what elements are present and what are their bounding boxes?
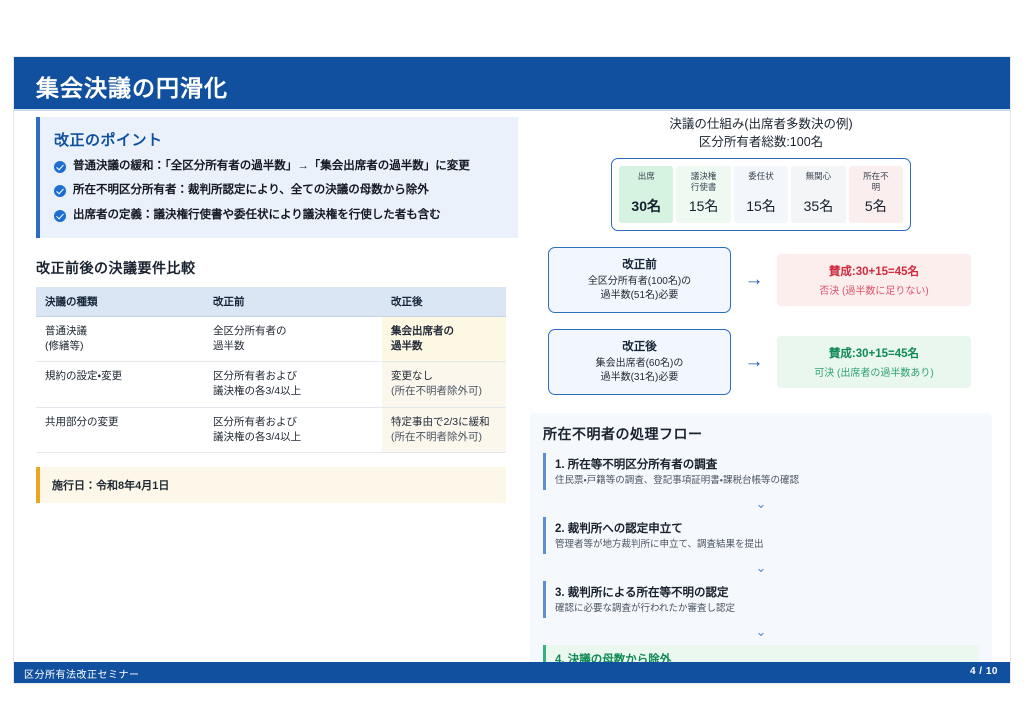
result-main: 賛成:30+15=45名 [783,263,965,279]
vote-cell-voting-form: 議決権 行使書 15名 [676,166,730,222]
cell-before-line2: 議決権の各3/4以上 [213,384,373,399]
cell-after-line1: 集会出席者の [391,324,497,339]
column-header-after: 改正後 [382,287,506,317]
table-row: 規約の設定・変更 区分所有者および 議決権の各3/4以上 変更なし (所在不明者… [36,362,506,407]
check-circle-icon [54,210,66,222]
cell-before-line1: 全区分所有者の [213,324,373,339]
mechanism-title-line1: 決議の仕組み(出席者多数決の例) [669,117,852,131]
cell-type-main: 普通決議 [45,324,195,339]
scenario-box-after: 改正後 集会出席者(60名)の 過半数(31名)必要 [548,329,731,395]
flow-step-title: 3. 裁判所による所在等不明の認定 [555,584,979,600]
vote-cell-value: 15名 [678,196,728,216]
scenario-title: 改正後 [555,338,724,354]
scenario-line1: 集会出席者(60名)の [555,357,724,372]
scenario-result-before: 賛成:30+15=45名 否決 (過半数に足りない) [777,254,971,306]
slide-title-bar: 集会決議の円滑化 [14,57,1010,109]
cell-type-main: 規約の設定・変更 [45,369,195,384]
flow-step-1: 1. 所在等不明区分所有者の調査 住民票・戸籍等の調査、登記事項証明書・課税台帳… [543,453,979,490]
cell-type: 普通決議 (修繕等) [36,316,204,361]
vote-cell-attendance: 出席 30名 [619,166,673,222]
cell-type-sub: (修繕等) [45,339,195,354]
vote-cell-unknown-location: 所在不 明 5名 [849,166,903,222]
key-point-item: 出席者の定義：議決権行使書や委任状により議決権を行使した者も含む [54,207,504,224]
key-point-item: 普通決議の緩和：「全区分所有者の過半数」→「集会出席者の過半数」に変更 [54,158,504,175]
scenario-line2: 過半数(31名)必要 [555,371,724,386]
flow-step-desc: 確認に必要な調査が行われたか審査し認定 [555,602,979,615]
vote-breakdown-box: 出席 30名 議決権 行使書 15名 委任状 15名 無関心 35名 所在不 [611,158,911,230]
flow-step-title: 2. 裁判所への認定申立て [555,520,979,536]
check-circle-icon [54,161,66,173]
vote-cell-value: 35名 [793,196,843,216]
slide-footer: 区分所有法改正セミナー 4 / 10 [14,662,1010,683]
cell-before-line1: 区分所有者および [213,415,373,430]
scenario-row-before: 改正前 全区分所有者(100名)の 過半数(51名)必要 → 賛成:30+15=… [530,247,992,313]
cell-before: 区分所有者および 議決権の各3/4以上 [204,362,382,407]
key-point-label: 出席者の定義：議決権行使書や委任状により議決権を行使した者も含む [73,207,504,224]
scenario-line1: 全区分所有者(100名)の [555,275,724,290]
result-sub: 否決 (過半数に足りない) [783,282,965,297]
table-header-row: 決議の種類 改正前 改正後 [36,287,506,317]
flow-step-2: 2. 裁判所への認定申立て 管理者等が地方裁判所に申立て、調査結果を提出 [543,517,979,554]
cell-type: 共用部分の変更 [36,407,204,452]
mechanism-title-line2: 区分所有者総数:100名 [591,133,931,151]
result-sub: 可決 (出席者の過半数あり) [783,364,965,379]
flow-step-title: 1. 所在等不明区分所有者の調査 [555,456,979,472]
arrow-right-icon: → [731,352,777,371]
key-points-panel: 改正のポイント 普通決議の緩和：「全区分所有者の過半数」→「集会出席者の過半数」… [36,117,518,238]
key-points-heading: 改正のポイント [54,129,504,150]
vote-cell-label: 出席 [621,171,671,182]
title-underline [14,109,1010,111]
scenario-title: 改正前 [555,256,724,272]
cell-before-line1: 区分所有者および [213,369,373,384]
key-point-label: 所在不明区分所有者：裁判所認定により、全ての決議の母数から除外 [73,182,504,199]
page-title: 集会決議の円滑化 [36,69,228,103]
process-flow-panel: 所在不明者の処理フロー 1. 所在等不明区分所有者の調査 住民票・戸籍等の調査、… [530,413,992,684]
chevron-down-icon: ⌄ [543,490,979,517]
mechanism-title: 決議の仕組み(出席者多数決の例) 区分所有者総数:100名 [591,115,931,151]
scenario-row-after: 改正後 集会出席者(60名)の 過半数(31名)必要 → 賛成:30+15=45… [530,329,992,395]
requirements-comparison-table: 決議の種類 改正前 改正後 普通決議 (修繕等) 全区分所有者の 過半数 [36,287,506,453]
cell-after: 変更なし (所在不明者除外可) [382,362,506,407]
cell-after-line1: 変更なし [391,369,497,384]
cell-type: 規約の設定・変更 [36,362,204,407]
scenario-result-after: 賛成:30+15=45名 可決 (出席者の過半数あり) [777,336,971,388]
flow-step-3: 3. 裁判所による所在等不明の認定 確認に必要な調査が行われたか審査し認定 [543,581,979,618]
footer-page-number: 4 / 10 [970,666,998,677]
scenario-line2: 過半数(51名)必要 [555,289,724,304]
vote-cell-label: 無関心 [793,171,843,182]
cell-before-line2: 議決権の各3/4以上 [213,430,373,445]
chevron-down-icon: ⌄ [543,554,979,581]
cell-before: 区分所有者および 議決権の各3/4以上 [204,407,382,452]
cell-before-line2: 過半数 [213,339,373,354]
comparison-heading: 改正前後の決議要件比較 [36,258,518,278]
key-point-label: 普通決議の緩和：「全区分所有者の過半数」→「集会出席者の過半数」に変更 [73,158,504,175]
cell-after: 特定事由で2/3に緩和 (所在不明者除外可) [382,407,506,452]
result-main: 賛成:30+15=45名 [783,345,965,361]
vote-cell-label-line1: 所在不 [863,171,889,181]
flow-step-desc: 管理者等が地方裁判所に申立て、調査結果を提出 [555,538,979,551]
vote-cell-label-line2: 明 [872,182,881,192]
left-column: 改正のポイント 普通決議の緩和：「全区分所有者の過半数」→「集会出席者の過半数」… [36,117,518,503]
vote-cell-value: 30名 [621,196,671,216]
chevron-down-icon: ⌄ [543,618,979,645]
effective-date-note: 施行日：令和8年4月1日 [36,467,506,503]
table-row: 普通決議 (修繕等) 全区分所有者の 過半数 集会出席者の 過半数 [36,316,506,361]
vote-cell-value: 15名 [736,196,786,216]
vote-cell-label: 議決権 行使書 [678,171,728,192]
footer-seminar-name: 区分所有法改正セミナー [24,666,140,681]
arrow-right-icon: → [731,270,777,289]
vote-cell-label-line1: 議決権 [691,171,717,181]
column-header-type: 決議の種類 [36,287,204,317]
flow-step-desc: 住民票・戸籍等の調査、登記事項証明書・課税台帳等の確認 [555,474,979,487]
vote-cell-proxy: 委任状 15名 [734,166,788,222]
flow-heading: 所在不明者の処理フロー [543,424,979,444]
vote-cell-value: 5名 [851,196,901,216]
cell-after: 集会出席者の 過半数 [382,316,506,361]
cell-after-line1: 特定事由で2/3に緩和 [391,415,497,430]
vote-cell-label-line2: 行使書 [691,182,717,192]
right-column: 決議の仕組み(出席者多数決の例) 区分所有者総数:100名 出席 30名 議決権… [530,115,992,683]
column-header-before: 改正前 [204,287,382,317]
cell-after-line2: (所在不明者除外可) [391,430,497,445]
scenario-box-before: 改正前 全区分所有者(100名)の 過半数(51名)必要 [548,247,731,313]
cell-type-main: 共用部分の変更 [45,415,195,430]
vote-cell-label: 所在不 明 [851,171,901,192]
cell-after-line2: 過半数 [391,339,497,354]
cell-before: 全区分所有者の 過半数 [204,316,382,361]
check-circle-icon [54,185,66,197]
vote-cell-indifferent: 無関心 35名 [791,166,845,222]
cell-after-line2: (所在不明者除外可) [391,384,497,399]
vote-cell-label: 委任状 [736,171,786,182]
slide: 集会決議の円滑化 改正のポイント 普通決議の緩和：「全区分所有者の過半数」→「集… [14,57,1010,683]
key-point-item: 所在不明区分所有者：裁判所認定により、全ての決議の母数から除外 [54,182,504,199]
table-row: 共用部分の変更 区分所有者および 議決権の各3/4以上 特定事由で2/3に緩和 … [36,407,506,452]
